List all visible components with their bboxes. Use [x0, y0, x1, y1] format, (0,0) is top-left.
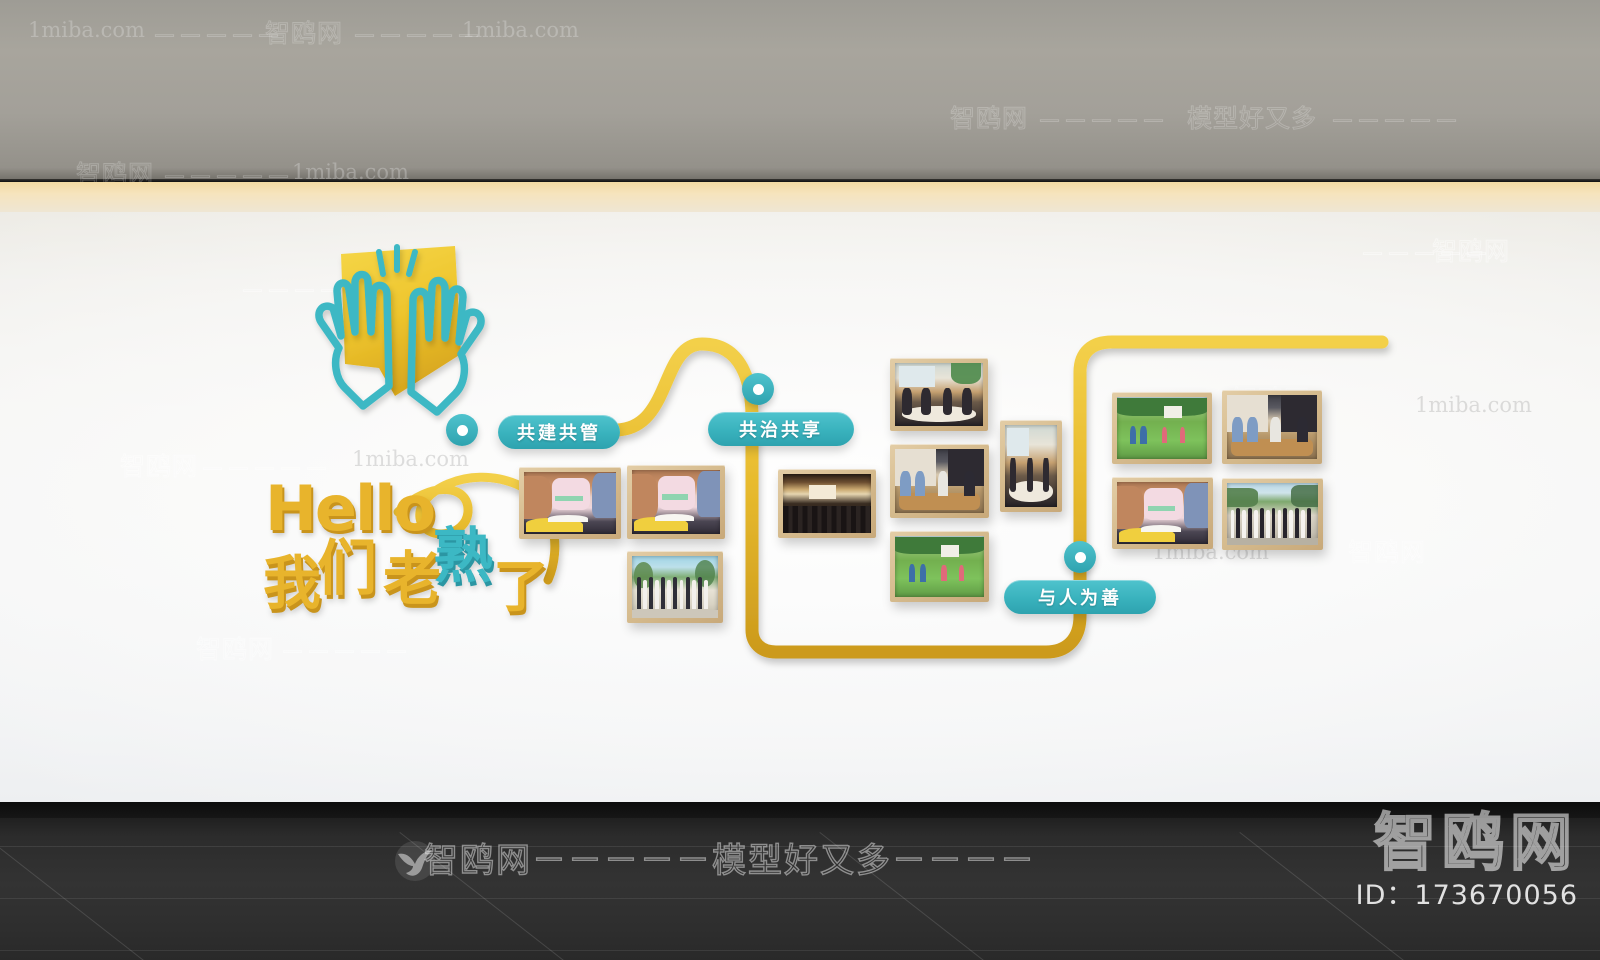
wordmark-cn-4: 熟	[433, 508, 493, 595]
photo-image-3	[632, 556, 718, 618]
photo-frame-10[interactable]	[1222, 390, 1322, 464]
wordmark-cn-1: 我	[263, 536, 321, 620]
badge-2-dot[interactable]	[742, 373, 774, 405]
photo-frame-7[interactable]	[890, 531, 989, 602]
photo-image-4	[783, 474, 871, 533]
photo-image-7	[895, 536, 984, 597]
wordmark: Hello 我 们 老 熟 了	[255, 470, 555, 620]
wordmark-cn-2: 们	[317, 520, 377, 607]
photo-frame-1[interactable]	[519, 467, 621, 539]
photo-frame-8[interactable]	[1000, 420, 1062, 512]
photo-frame-6[interactable]	[890, 444, 989, 518]
badge-1-dot[interactable]	[446, 414, 478, 446]
photo-image-12	[1227, 483, 1318, 545]
two-hands-logo	[283, 236, 513, 426]
badge-3-dot[interactable]	[1064, 541, 1096, 573]
photo-frame-2[interactable]	[627, 465, 725, 539]
scene-root: 1miba.com －－－－－ 智鸥网 －－－－－ 1miba.com 智鸥网 …	[0, 0, 1600, 960]
badge-dot-inner	[1075, 552, 1086, 563]
badge-gongjian-gongguan[interactable]: 共建共管	[498, 415, 620, 449]
floor-gridline-h-3	[0, 950, 1600, 951]
badge-dot-inner	[753, 384, 764, 395]
ceiling	[0, 0, 1600, 182]
photo-image-6	[895, 449, 984, 513]
photo-image-5	[895, 363, 983, 426]
photo-image-1	[524, 472, 616, 534]
wordmark-cn-5: 了	[493, 542, 549, 623]
photo-frame-12[interactable]	[1222, 478, 1323, 550]
photo-image-10	[1227, 395, 1317, 459]
photo-frame-11[interactable]	[1112, 477, 1213, 549]
photo-frame-4[interactable]	[778, 469, 876, 538]
model-id-label: ID：173670056	[1356, 873, 1578, 912]
photo-frame-3[interactable]	[627, 551, 723, 623]
photo-frame-9[interactable]	[1112, 392, 1212, 464]
photo-image-9	[1117, 397, 1207, 459]
badge-yuren-weishan[interactable]: 与人为善	[1004, 580, 1156, 614]
badge-dot-inner	[457, 425, 468, 436]
photo-frame-5[interactable]	[890, 358, 988, 431]
floor-gridline-d-1	[0, 832, 319, 960]
badge-gongzhi-gongxiang[interactable]: 共治共享	[708, 412, 854, 446]
photo-image-2	[632, 470, 720, 534]
floor-skirting	[0, 802, 1600, 818]
photo-image-8	[1005, 425, 1057, 507]
photo-image-11	[1117, 482, 1208, 544]
watermark-floor-line: 智鸥网－－－－－模型好又多－－－－	[424, 833, 1036, 882]
